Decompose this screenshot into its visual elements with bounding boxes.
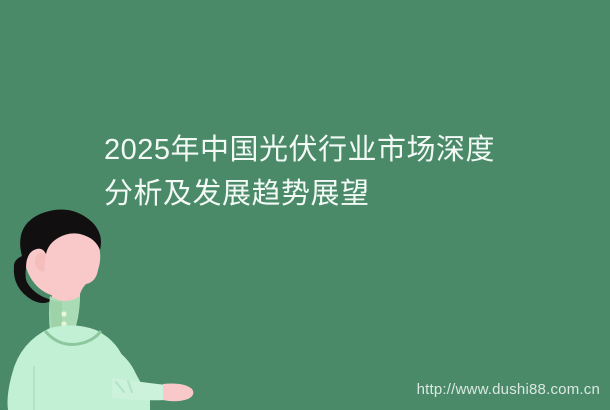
collar-button-icon	[61, 311, 66, 316]
hand-shape	[163, 384, 193, 402]
person-illustration	[0, 196, 200, 410]
promo-banner: 2025年中国光伏行业市场深度 分析及发展趋势展望 http://www.dus…	[0, 0, 610, 410]
title-line-1: 2025年中国光伏行业市场深度	[104, 128, 484, 172]
watermark-url: http://www.dushi88.com.cn	[417, 381, 600, 398]
page-title: 2025年中国光伏行业市场深度 分析及发展趋势展望	[104, 128, 484, 216]
title-line-2: 分析及发展趋势展望	[104, 172, 484, 216]
